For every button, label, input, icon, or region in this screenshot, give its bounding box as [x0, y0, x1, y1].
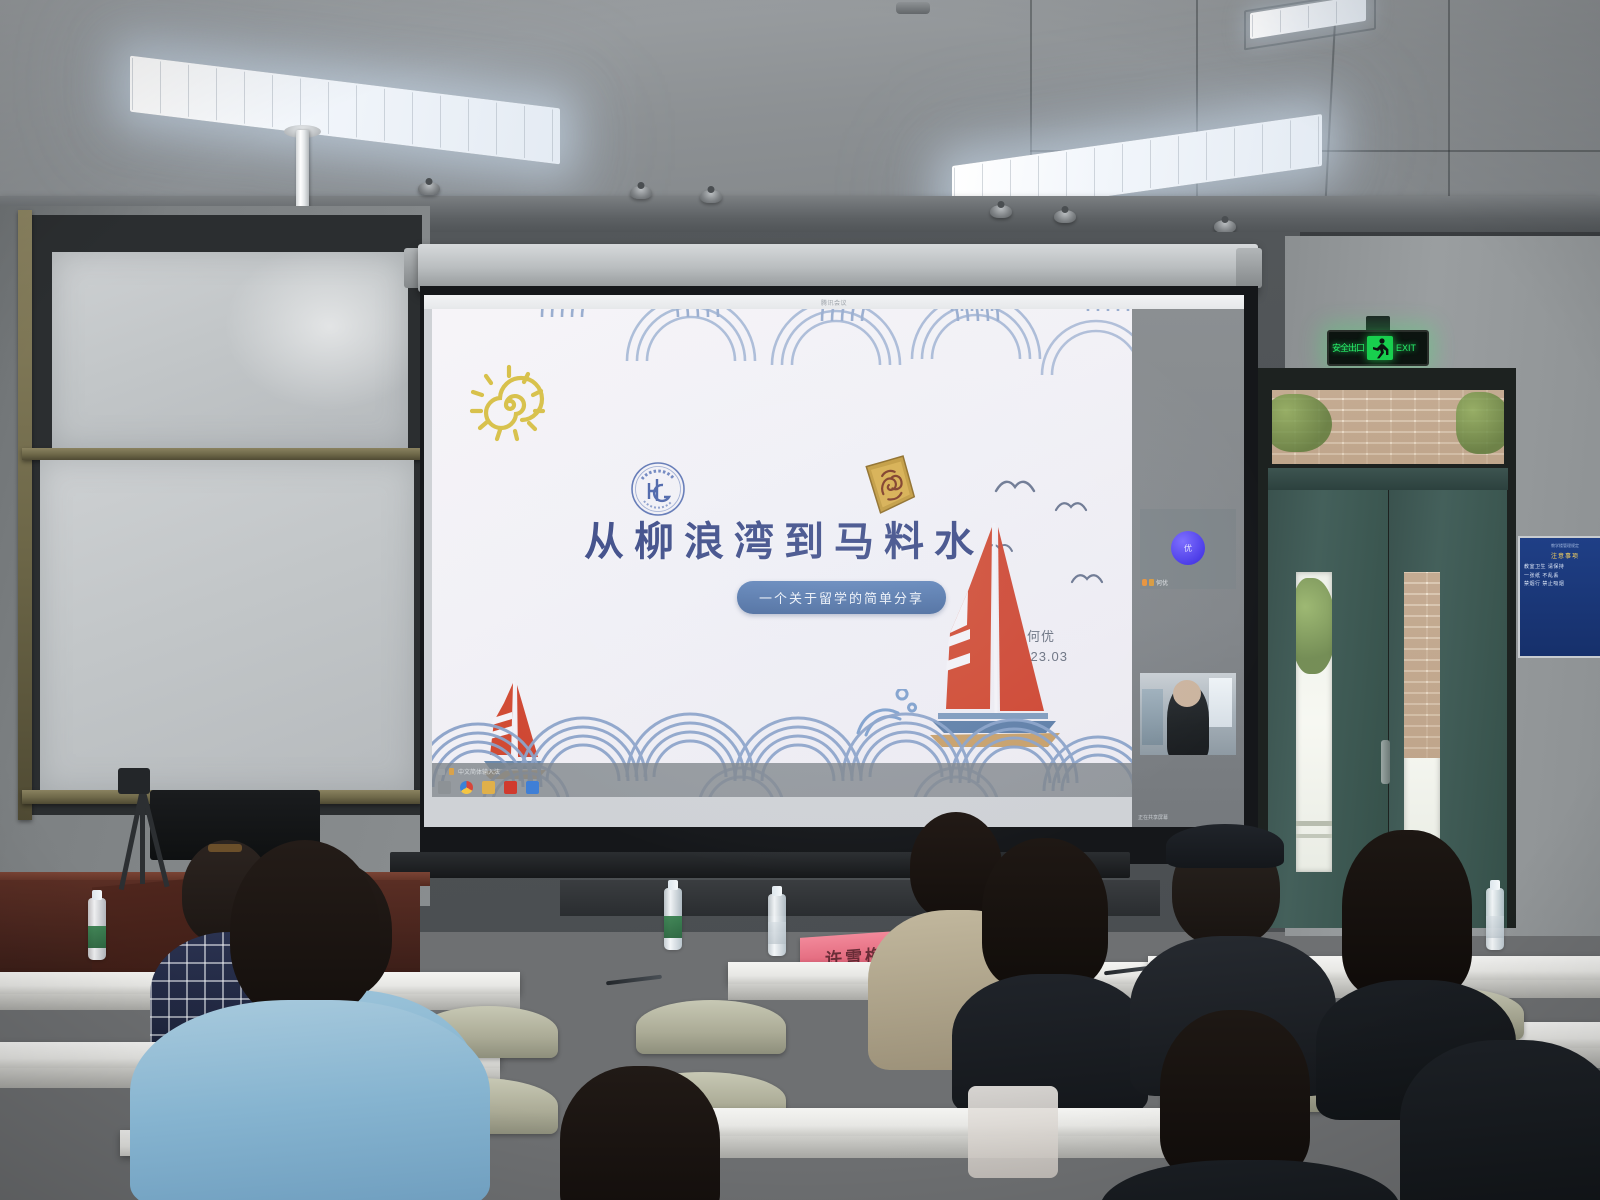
- water-bottle: [88, 898, 106, 960]
- taskbar-tray[interactable]: 中文简体输入法: [438, 767, 500, 776]
- poster-line-1: 教室卫生 请保持: [1524, 563, 1600, 572]
- sprinkler-head: [700, 190, 722, 203]
- foliage-icon: [1456, 392, 1504, 454]
- file-explorer-icon[interactable]: [482, 781, 495, 794]
- smoke-detector: [896, 2, 930, 14]
- attendee-head: [982, 838, 1108, 988]
- chair: [636, 1000, 786, 1054]
- poster-top-line: 教学楼管理规定: [1524, 543, 1600, 549]
- meeting-app-title: 腾讯会议: [821, 298, 847, 307]
- participant-name: 何优: [1156, 578, 1168, 587]
- emergency-exit-sign: 安全出口 EXIT: [1327, 330, 1429, 366]
- ceiling-grid-line: [1448, 0, 1450, 196]
- exterior-rail: [1296, 821, 1332, 826]
- screen-housing: [418, 244, 1258, 292]
- attendee-body: [1100, 1160, 1400, 1200]
- whiteboard-upper: [52, 252, 408, 448]
- screen-housing-end-right: [1236, 248, 1262, 288]
- foliage-icon: [1296, 578, 1332, 674]
- person-icon: [449, 768, 454, 775]
- windows-start-icon[interactable]: [438, 781, 451, 794]
- presentation-slide: 从柳浪湾到马料水 一个关于留学的简单分享 何优 2023.03: [432, 309, 1132, 797]
- attendee-head: [1160, 1010, 1310, 1178]
- board-frame-left: [18, 210, 32, 820]
- seagull-icon: [994, 477, 1036, 500]
- ime-status-text: 中文简体输入法: [458, 767, 500, 776]
- water-bottle: [664, 888, 682, 950]
- door-window-right: [1404, 572, 1440, 872]
- wall-notice-poster: 教学楼管理规定 注意事项 教室卫生 请保持 一张纸 不乱丢 禁烟行 禁止吸烟: [1518, 536, 1600, 658]
- classroom-photo-scene: 腾讯会议: [0, 0, 1600, 1200]
- poster-line-3: 禁烟行 禁止吸烟: [1524, 580, 1600, 589]
- exterior-rail: [1296, 834, 1332, 838]
- bag: [968, 1086, 1058, 1178]
- sun-svg: [467, 361, 551, 445]
- taskbar-icon-row[interactable]: [438, 781, 539, 794]
- water-bottle: [1486, 888, 1504, 950]
- presenter-icon: [1149, 579, 1154, 586]
- microphone-muted-icon: [1142, 579, 1147, 586]
- pen: [606, 975, 662, 986]
- board-frame-mid: [22, 448, 422, 460]
- seagull-icon: [1070, 571, 1104, 591]
- video-bg-window: [1209, 678, 1232, 727]
- participant-avatar-tile[interactable]: 优 何优: [1140, 509, 1236, 589]
- exit-sign-chinese-text: 安全出口: [1332, 344, 1364, 353]
- sprinkler-head: [1054, 210, 1076, 223]
- cap-icon: [1166, 824, 1284, 868]
- running-person-icon: [1367, 336, 1393, 360]
- door-transom-window: [1272, 390, 1504, 464]
- windows-taskbar[interactable]: 中文简体输入法: [432, 763, 1132, 797]
- sprinkler-head: [990, 205, 1012, 218]
- participant-label-row: 何优: [1142, 578, 1168, 587]
- meeting-app-titlebar: 腾讯会议: [424, 295, 1244, 309]
- attendee-body: [1400, 1040, 1600, 1200]
- video-bg-left: [1142, 689, 1163, 745]
- water-bottle: [768, 894, 786, 956]
- pdf-reader-icon[interactable]: [504, 781, 517, 794]
- attendee-head: [230, 840, 380, 1020]
- display-icon: [438, 769, 445, 775]
- meeting-participant-rail[interactable]: 优 何优 正在共享屏幕: [1132, 309, 1244, 827]
- attendee-body: [130, 1000, 490, 1200]
- exit-sign-english-text: EXIT: [1396, 344, 1416, 353]
- meeting-footer-status: 正在共享屏幕: [1138, 814, 1168, 821]
- slide-subtitle-pill: 一个关于留学的简单分享: [737, 581, 946, 614]
- poster-line-2: 一张纸 不乱丢: [1524, 572, 1600, 581]
- avatar: 优: [1171, 531, 1205, 565]
- sun-icon: [467, 361, 551, 445]
- hair-clip-icon: [208, 844, 242, 852]
- sprinkler-head: [630, 186, 652, 199]
- participant-video-tile[interactable]: [1140, 673, 1236, 755]
- sprinkler-head: [418, 182, 440, 195]
- attendee-head: [560, 1066, 720, 1200]
- tripod-leg: [140, 780, 145, 884]
- whiteboard-lower: [40, 460, 414, 790]
- exterior-brick-wall: [1404, 572, 1440, 758]
- attendee-head: [1342, 830, 1472, 996]
- door-header: [1268, 468, 1508, 490]
- chrome-browser-icon[interactable]: [460, 781, 473, 794]
- camera-tripod: [96, 780, 186, 900]
- poster-header: 注意事项: [1524, 551, 1600, 560]
- door-handle[interactable]: [1381, 740, 1390, 784]
- meeting-app-icon[interactable]: [526, 781, 539, 794]
- projection-screen: 腾讯会议: [424, 295, 1244, 827]
- tripod-head: [118, 768, 150, 794]
- door-window-left: [1296, 572, 1332, 872]
